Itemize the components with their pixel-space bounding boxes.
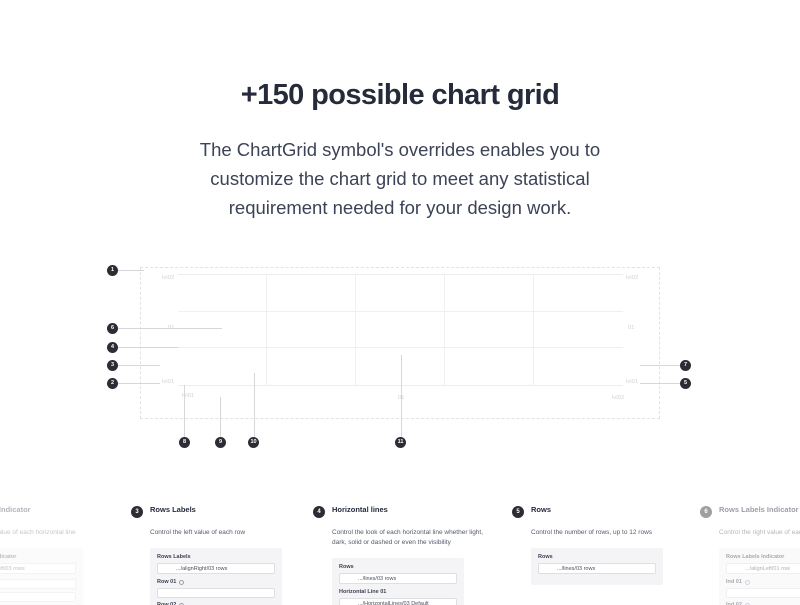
field-label: Rows Labels	[157, 554, 275, 560]
panel-horizontal-lines: 4 Horizontal lines Control the look of e…	[313, 505, 488, 605]
panel-badge[interactable]: 6	[700, 506, 712, 518]
field-label: Rows Labels Indicator	[0, 554, 76, 560]
panel-header: 2 Rows Labels Indicator	[0, 505, 107, 518]
panel-rows-labels-indicator-right: 6 Rows Labels Indicator Control the righ…	[700, 505, 800, 605]
label-top-right: lvl02	[626, 275, 638, 281]
ind-01-label: Ind 01	[726, 579, 742, 585]
callout-badge-11[interactable]: 11	[395, 437, 406, 448]
visibility-toggle-icon[interactable]	[745, 580, 750, 585]
grid-cell	[267, 348, 356, 385]
visibility-toggle-icon[interactable]	[179, 580, 184, 585]
panel-title: Rows Labels Indicator	[719, 505, 799, 514]
panel-title: Rows	[531, 505, 551, 514]
leader-line-11	[401, 355, 402, 437]
panel-header: 4 Horizontal lines	[313, 505, 488, 518]
panel-description: Control the right value of each horizont…	[719, 528, 800, 538]
select-rows-labels-indicator-right[interactable]: .../alignLeft/01 row	[726, 563, 800, 574]
leader-line-10	[254, 373, 255, 437]
panel-description: Control the number of rows, up to 12 row…	[531, 528, 687, 538]
select-rows-count[interactable]: .../lines/03 rows	[538, 563, 656, 574]
panel-badge[interactable]: 3	[131, 506, 143, 518]
leader-line-9	[220, 397, 221, 437]
grid-cell	[534, 312, 623, 349]
callout-badge-5[interactable]: 5	[680, 378, 691, 389]
grid-cell	[534, 348, 623, 385]
page-subtitle: The ChartGrid symbol's overrides enables…	[165, 135, 635, 223]
panel-description: Control the left value of each row	[150, 528, 306, 538]
leader-line-2	[118, 383, 160, 384]
leader-line-4	[118, 347, 178, 348]
leader-line-5	[640, 383, 682, 384]
leader-line-7	[640, 365, 682, 366]
page-title: +150 possible chart grid	[0, 78, 800, 113]
panel-title: Rows Labels	[150, 505, 196, 514]
panel-title: Rows Labels Indicator	[0, 505, 31, 514]
label-bottom-right: lvl01	[626, 379, 638, 385]
panel-title: Horizontal lines	[332, 505, 388, 514]
callout-badge-3[interactable]: 3	[107, 360, 118, 371]
leader-line-6	[118, 328, 222, 329]
grid-cell	[445, 348, 534, 385]
hero-section: +150 possible chart grid The ChartGrid s…	[0, 0, 800, 222]
leader-line-1	[118, 270, 144, 271]
callout-badge-10[interactable]: 10	[248, 437, 259, 448]
leader-line-8	[184, 385, 185, 437]
grid-cell	[178, 312, 267, 349]
text-input[interactable]	[0, 579, 76, 589]
callout-badge-7[interactable]: 7	[680, 360, 691, 371]
inspector-panel: Rows .../lines/03 rows	[531, 548, 663, 585]
panel-rows-labels: 3 Rows Labels Control the left value of …	[131, 505, 306, 605]
row-01-label: Row 01	[157, 579, 176, 585]
label-top-left: lvl02	[162, 275, 174, 281]
grid-cell	[267, 312, 356, 349]
callout-badge-9[interactable]: 9	[215, 437, 226, 448]
callout-badge-2[interactable]: 2	[107, 378, 118, 389]
select-rows-labels[interactable]: .../alignRight/03 rows	[157, 563, 275, 574]
field-label: Rows	[339, 564, 457, 570]
panel-rows: 5 Rows Control the number of rows, up to…	[512, 505, 687, 585]
panel-badge[interactable]: 4	[313, 506, 325, 518]
label-bottom-left: lvl01	[162, 379, 174, 385]
panel-rows-labels-indicator-left: 2 Rows Labels Indicator Control the left…	[0, 505, 107, 605]
grid-cell	[445, 275, 534, 312]
inspector-panel: Rows Labels Indicator .../alignLeft/01 r…	[719, 548, 800, 605]
inspector-panel: Rows Labels Indicator .../alignLeft/03 r…	[0, 548, 83, 605]
chart-grid-diagram: lvl02 lvl02 01 01 lvl01 lvl01 lvl01 01 l…	[100, 255, 700, 460]
field-label-horizontal-line: Horizontal Line 01	[339, 589, 457, 595]
label-mid-right: 01	[628, 325, 635, 331]
callout-badge-4[interactable]: 4	[107, 342, 118, 353]
panel-badge[interactable]: 5	[512, 506, 524, 518]
row-01-input[interactable]	[157, 588, 275, 598]
ind-01-input[interactable]	[726, 588, 800, 598]
grid-cell	[267, 275, 356, 312]
grid-cell	[356, 275, 445, 312]
row-01-label-group: Row 01	[157, 579, 275, 585]
inspector-panel: Rows .../lines/03 rows Horizontal Line 0…	[332, 558, 464, 605]
grid-cell	[356, 312, 445, 349]
panel-description: Control the left value of each horizonta…	[0, 528, 107, 538]
label-col-right: lvl02	[612, 395, 624, 401]
feature-panels: 2 Rows Labels Indicator Control the left…	[0, 505, 800, 605]
panel-header: 6 Rows Labels Indicator	[700, 505, 800, 518]
panel-description: Control the look of each horizontal line…	[332, 528, 488, 548]
panel-header: 3 Rows Labels	[131, 505, 306, 518]
select-rows[interactable]: .../lines/03 rows	[339, 573, 457, 584]
callout-badge-1[interactable]: 1	[107, 265, 118, 276]
inspector-panel: Rows Labels .../alignRight/03 rows Row 0…	[150, 548, 282, 605]
text-input[interactable]	[0, 592, 76, 602]
grid-cell	[178, 275, 267, 312]
select-horizontal-line-01[interactable]: .../HorizontalLines/03 Default	[339, 598, 457, 605]
panel-header: 5 Rows	[512, 505, 687, 518]
page-root: +150 possible chart grid The ChartGrid s…	[0, 0, 800, 605]
callout-badge-8[interactable]: 8	[179, 437, 190, 448]
callout-badge-6[interactable]: 6	[107, 323, 118, 334]
leader-line-3	[118, 365, 160, 366]
grid-cell	[534, 275, 623, 312]
field-label: Rows Labels Indicator	[726, 554, 800, 560]
field-label: Rows	[538, 554, 656, 560]
select-rows-labels-indicator[interactable]: .../alignLeft/03 rows	[0, 563, 76, 574]
ind-01-label-group: Ind 01	[726, 579, 800, 585]
grid-cell	[445, 312, 534, 349]
